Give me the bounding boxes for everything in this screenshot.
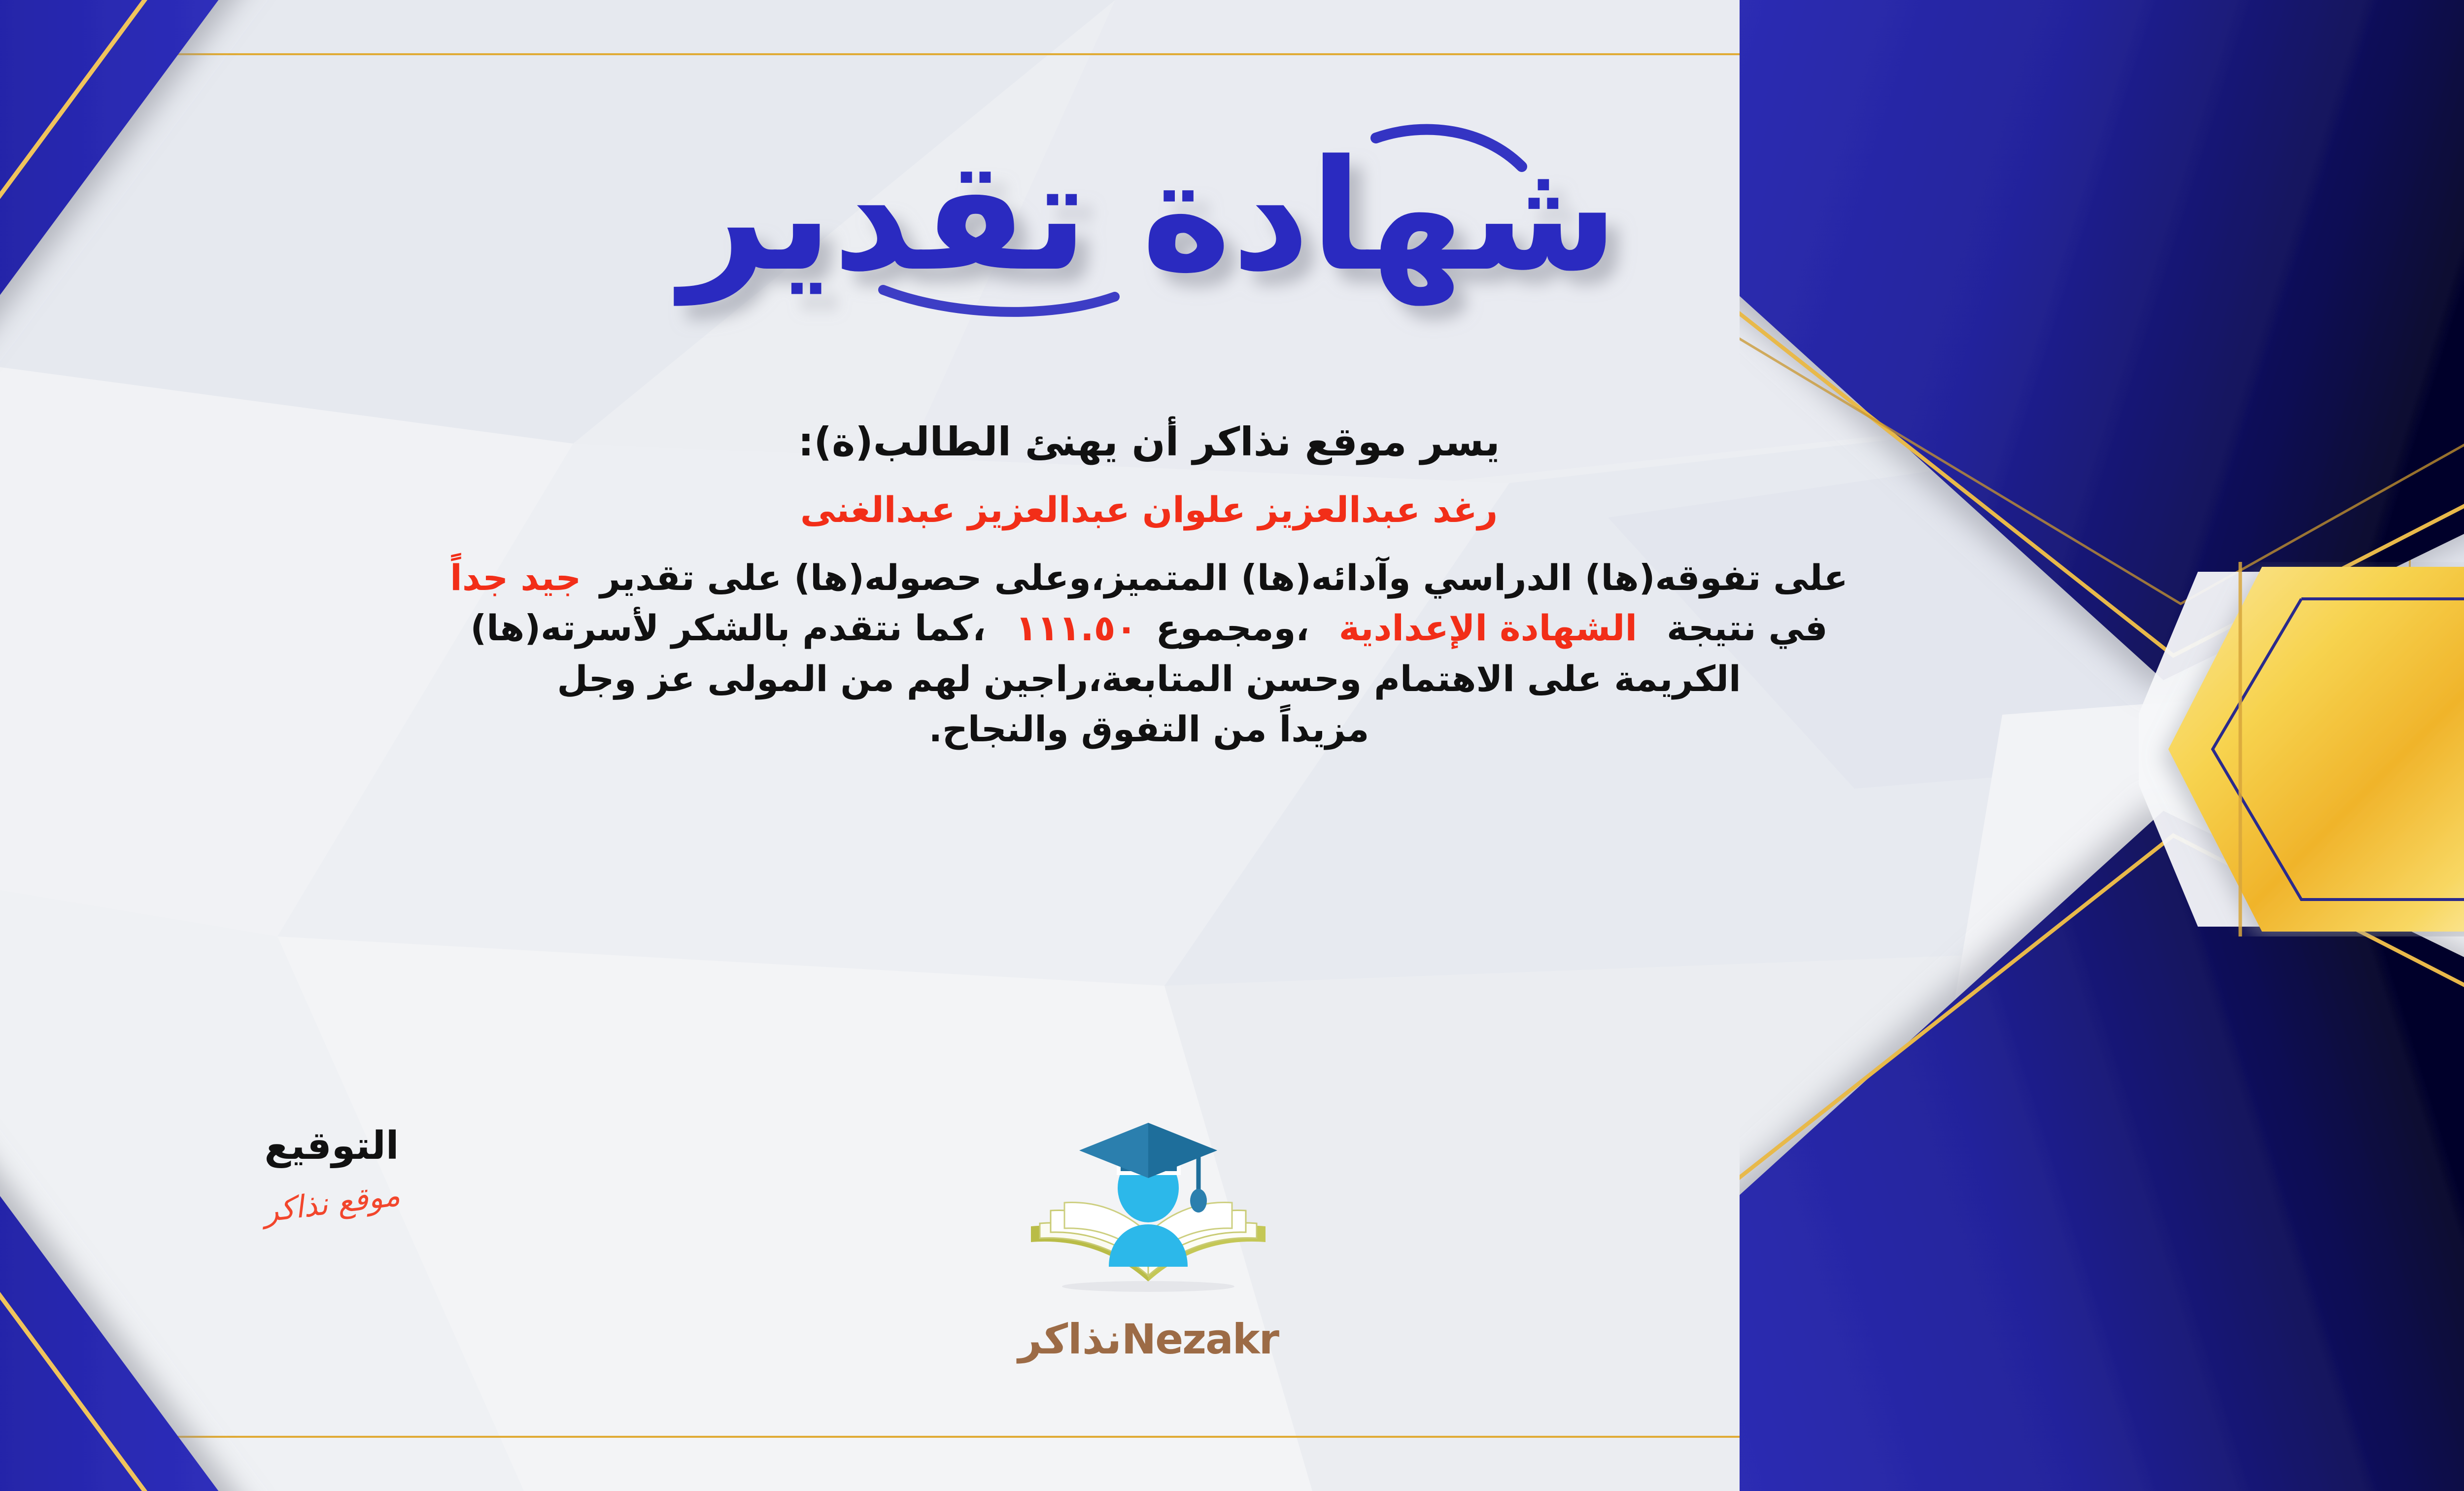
- brand-name-latin: Nezakr: [1122, 1315, 1278, 1363]
- graduation-book-logo-icon: [1010, 1119, 1286, 1316]
- closing-line: مزيداً من التفوق والنجاح.: [0, 704, 2336, 754]
- brand-logo: Nezakrنذاكر: [941, 1119, 1355, 1363]
- student-name: رغد عبدالعزيز علوان عبدالعزيز عبدالغنى: [0, 487, 2336, 533]
- certificate-page: شهادة تقدير يسر موقع نذاكر أن يهنئ الطال…: [0, 0, 2464, 1491]
- result-prefix: في نتيجة: [1667, 607, 1827, 649]
- total-label: ،ومجموع: [1156, 607, 1309, 649]
- thanks-line: الكريمة على الاهتمام وحسن المتابعة،راجين…: [0, 654, 2336, 704]
- grade-value: جيد جداً: [450, 557, 581, 598]
- total-score: ١١١.٥٠: [1015, 607, 1137, 649]
- achievement-line: على تفوقه(ها) الدراسي وآدائه(ها) المتميز…: [0, 553, 2336, 603]
- certificate-body: يسر موقع نذاكر أن يهنئ الطالب(ة): رغد عب…: [0, 414, 2336, 754]
- signature-block: التوقيع موقع نذاكر: [159, 1124, 504, 1221]
- certificate-name: الشهادة الإعدادية: [1339, 607, 1637, 649]
- brand-name-arabic: نذاكر: [1018, 1315, 1122, 1363]
- greeting-line: يسر موقع نذاكر أن يهنئ الطالب(ة):: [0, 414, 2336, 470]
- result-line: في نتيجةالشهادة الإعدادية،ومجموع١١١.٥٠،ك…: [0, 603, 2336, 653]
- signature-label: التوقيع: [159, 1124, 504, 1168]
- brand-name: Nezakrنذاكر: [941, 1315, 1355, 1363]
- achievement-text: على تفوقه(ها) الدراسي وآدائه(ها) المتميز…: [600, 557, 1848, 598]
- thanks-prefix: ،كما نتقدم بالشكر لأسرته(ها): [470, 607, 986, 649]
